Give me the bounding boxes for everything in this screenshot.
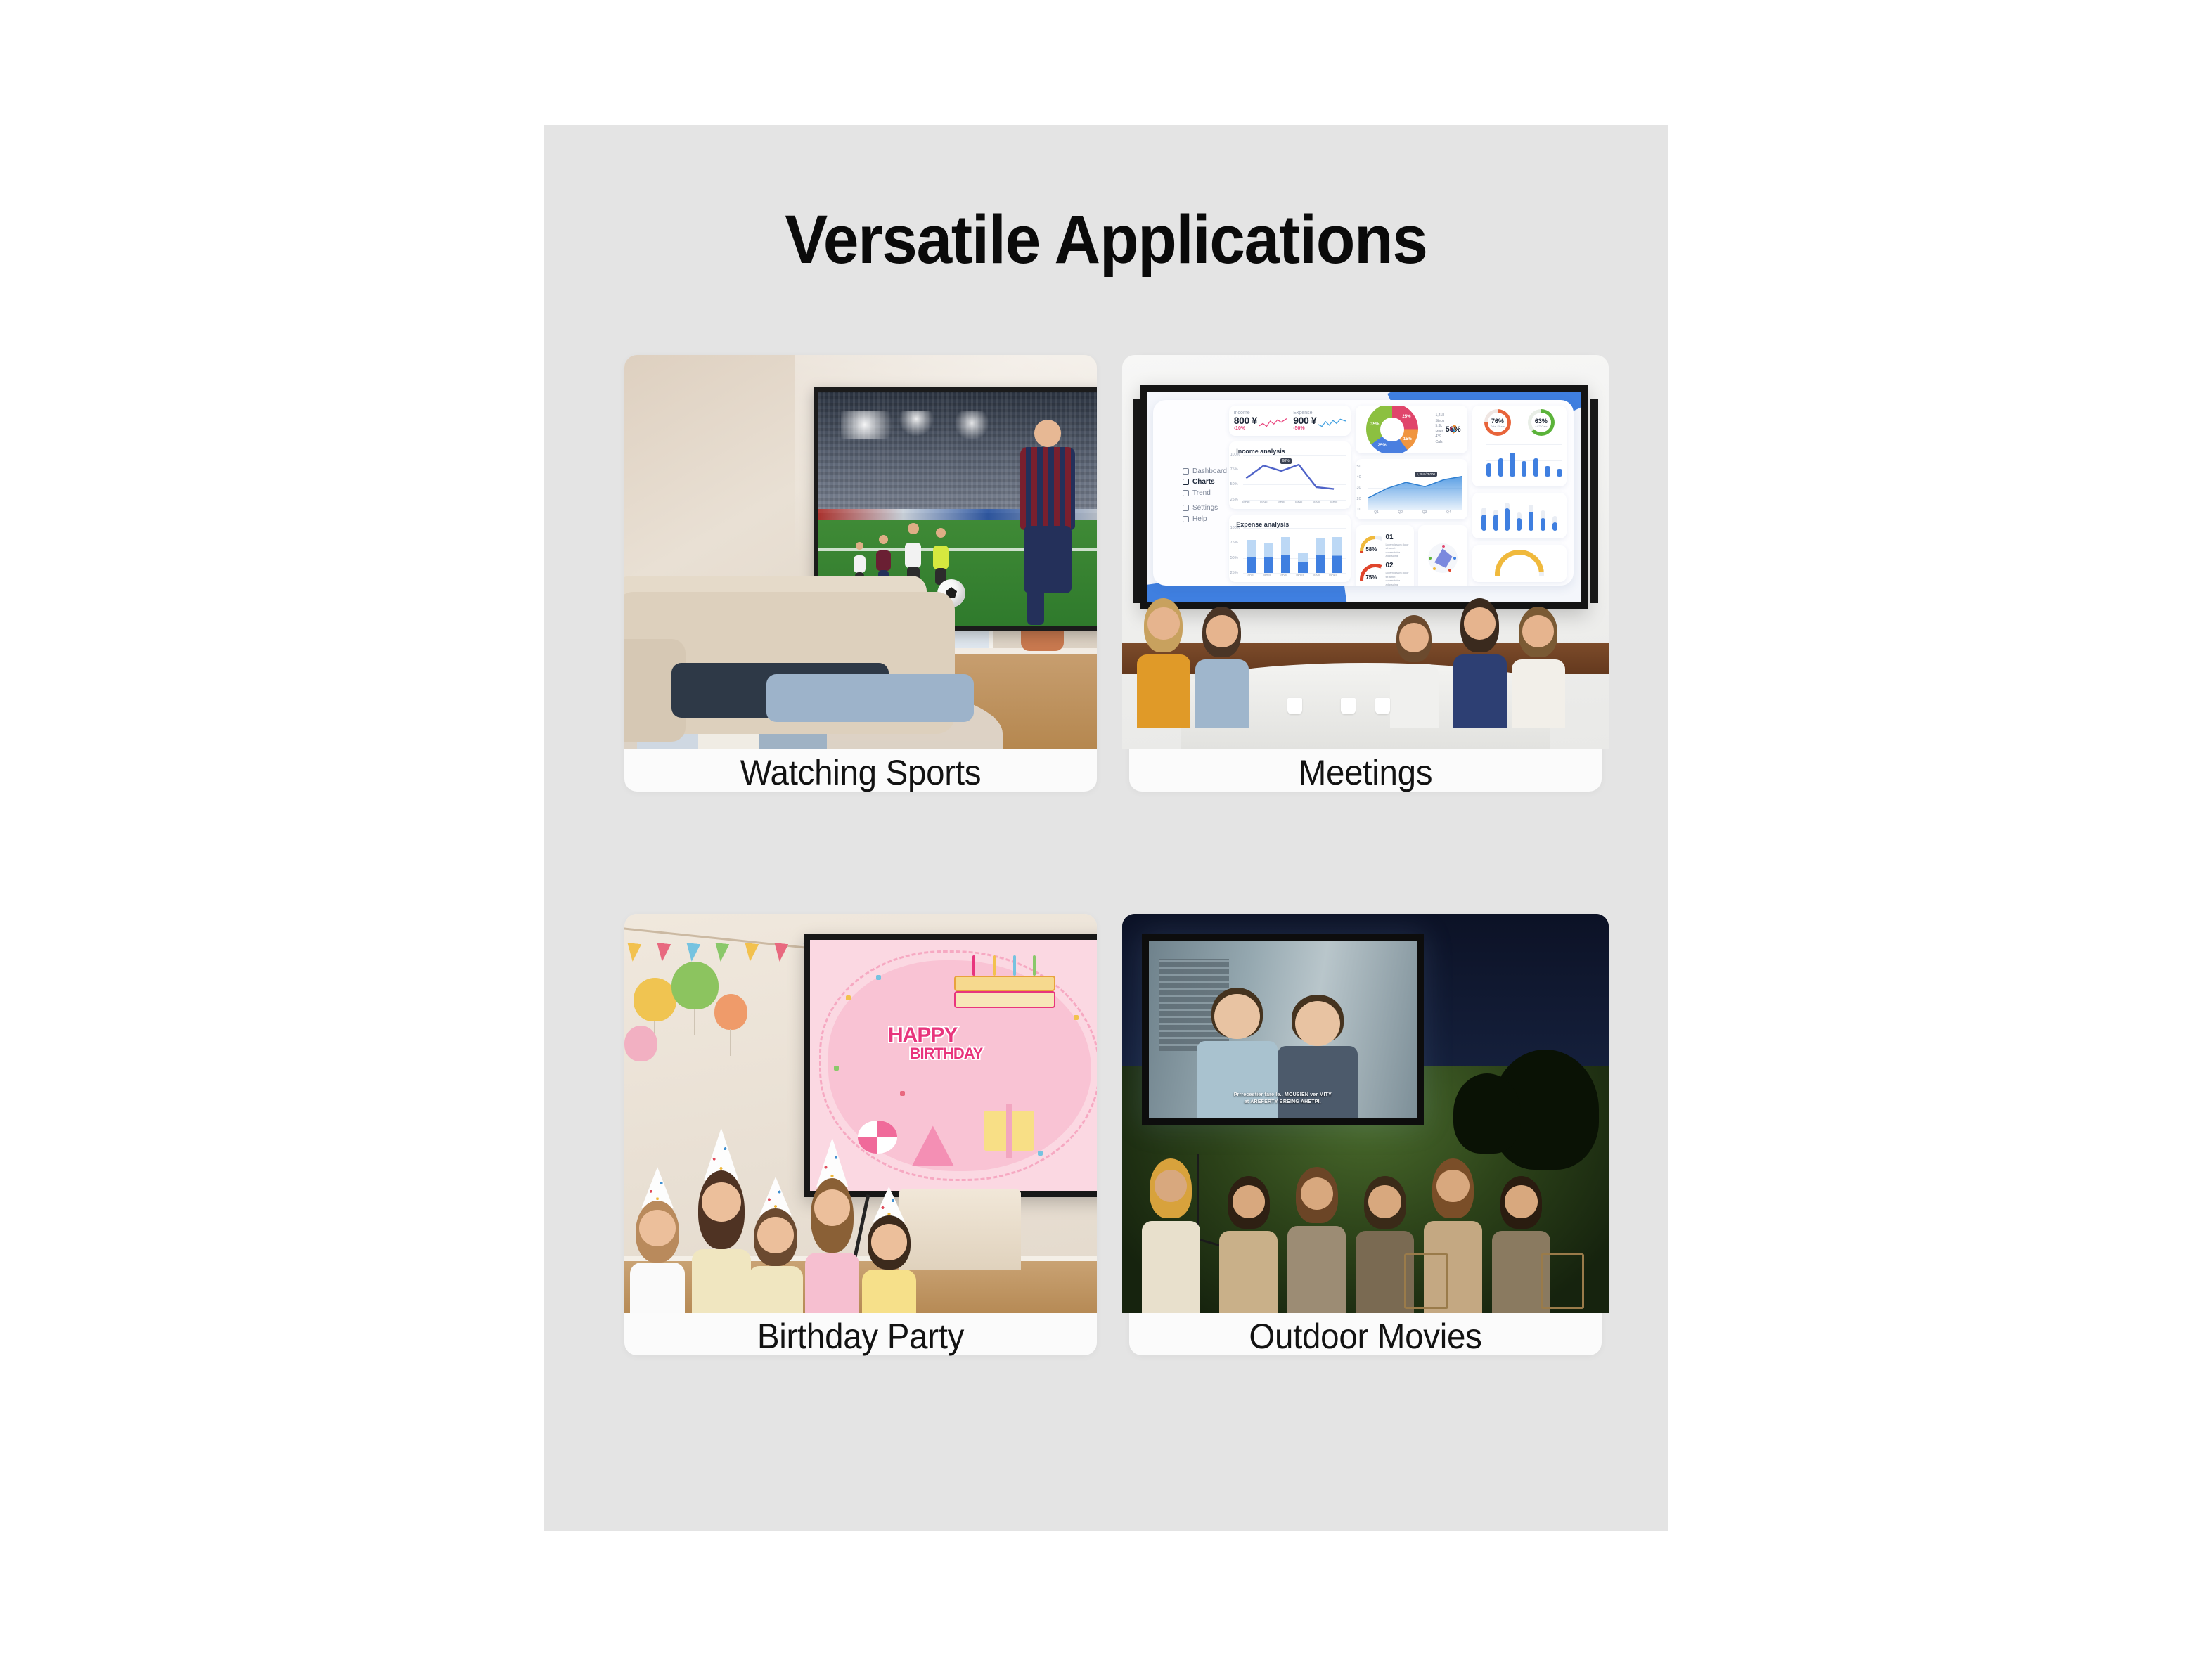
donut-76: 76% Total Share [1484,409,1511,436]
page-title: Versatile Applications [577,200,1635,279]
sidebar-divider [1183,501,1208,501]
income-analysis-chart: Income analysis 100% 75% 50% 25 [1229,441,1351,508]
expense-sparkline [1318,417,1346,429]
gear-icon [1183,505,1189,511]
speedometer-card [1472,545,1567,582]
area-chart-card: 50 40 30 20 10 [1356,459,1467,519]
bar-chart-icon [1183,479,1189,485]
card-label-birthday-party: Birthday Party [636,1316,1085,1357]
card-label-outdoor-movies: Outdoor Movies [1141,1316,1590,1357]
card-image-meetings: Dashboard Charts Trend [1122,355,1609,749]
income-tooltip: 68% [1280,458,1292,464]
page-root: Versatile Applications [0,0,2212,1659]
area-plot: 50 40 30 20 10 [1362,467,1462,510]
radar-chart-card [1418,525,1467,586]
expense-analysis-chart: Expense analysis 100% 75% 50% 2 [1229,515,1351,581]
pie-and-radial-card: 25% 15% 25% 35% 1,218 Steps [1356,406,1467,453]
application-card-watching-sports[interactable]: Watching Sports [624,355,1097,792]
donut-and-column-card: 76% Total Share 63% ACT Cate [1472,406,1567,486]
sidebar-item-help[interactable]: Help [1183,515,1208,523]
cake-icon [954,945,1056,1016]
gauge-list-card: 58% 01 Lorem ipsum dolor sit amet consec… [1356,525,1414,586]
radial-chart: 58% [1450,425,1456,434]
income-line [1243,455,1346,500]
help-icon [1183,516,1189,522]
kpi-income: Income 800 ¥ -10% [1234,411,1287,431]
income-plot: 100% 75% 50% 25% 68% [1236,455,1346,500]
card-image-outdoor-movies: Prrrecestier fare le.. MOUSIEN ver MITY … [1122,914,1609,1313]
application-card-outdoor-movies[interactable]: Prrrecestier fare le.. MOUSIEN ver MITY … [1129,914,1602,1355]
gauge-01: 58% [1360,536,1382,553]
gift-icon [984,1111,1034,1151]
sidebar-item-settings[interactable]: Settings [1183,504,1208,512]
lollipop-icon [858,1121,896,1153]
birthday-greeting: HAPPY BIRTHDAY [888,1026,1097,1061]
movie-subtitle: Prrrecestier fare le.. MOUSIEN ver MITY … [1165,1092,1401,1106]
speedometer-gauge [1495,550,1544,576]
card-label-meetings: Meetings [1141,752,1590,793]
card-image-watching-sports [624,355,1097,749]
birthday-card-graphic: HAPPY BIRTHDAY [810,940,1097,1191]
movie-scene: Prrrecestier fare le.. MOUSIEN ver MITY … [1149,941,1417,1118]
donut-63: 63% ACT Cate [1528,409,1555,436]
dashboard-sidebar: Dashboard Charts Trend [1153,400,1225,586]
kpi-expense: Expense 900 ¥ -50% [1293,411,1346,431]
radar-chart [1428,543,1458,573]
gauge-02: 75% [1360,564,1382,581]
projector-screen-birthday: HAPPY BIRTHDAY [804,934,1097,1197]
projector-screen-meetings: Dashboard Charts Trend [1140,385,1588,609]
sidebar-item-charts[interactable]: Charts [1183,478,1208,486]
card-image-birthday-party: HAPPY BIRTHDAY [624,914,1097,1313]
expense-plot: 100% 75% 50% 25% [1236,528,1346,573]
thermometer-card [1472,493,1567,538]
kpi-card-row: Income 800 ¥ -10% [1229,406,1351,436]
business-dashboard: Dashboard Charts Trend [1147,392,1581,602]
application-card-birthday-party[interactable]: HAPPY BIRTHDAY [624,914,1097,1355]
line-chart-icon [1183,490,1189,496]
income-sparkline [1259,417,1287,429]
application-card-meetings[interactable]: Dashboard Charts Trend [1129,355,1602,792]
home-icon [1183,468,1189,475]
outdoor-projector-screen: Prrrecestier fare le.. MOUSIEN ver MITY … [1142,934,1424,1125]
applications-grid: Watching Sports [624,355,1602,1452]
column-plot [1481,444,1562,477]
card-label-watching-sports: Watching Sports [636,752,1085,793]
sidebar-item-trend[interactable]: Trend [1183,489,1208,497]
area-tooltip: 1,284 / 3,000 [1415,472,1437,477]
sidebar-item-dashboard[interactable]: Dashboard [1183,467,1208,475]
pie-chart: 25% 15% 25% 35% [1366,406,1417,453]
